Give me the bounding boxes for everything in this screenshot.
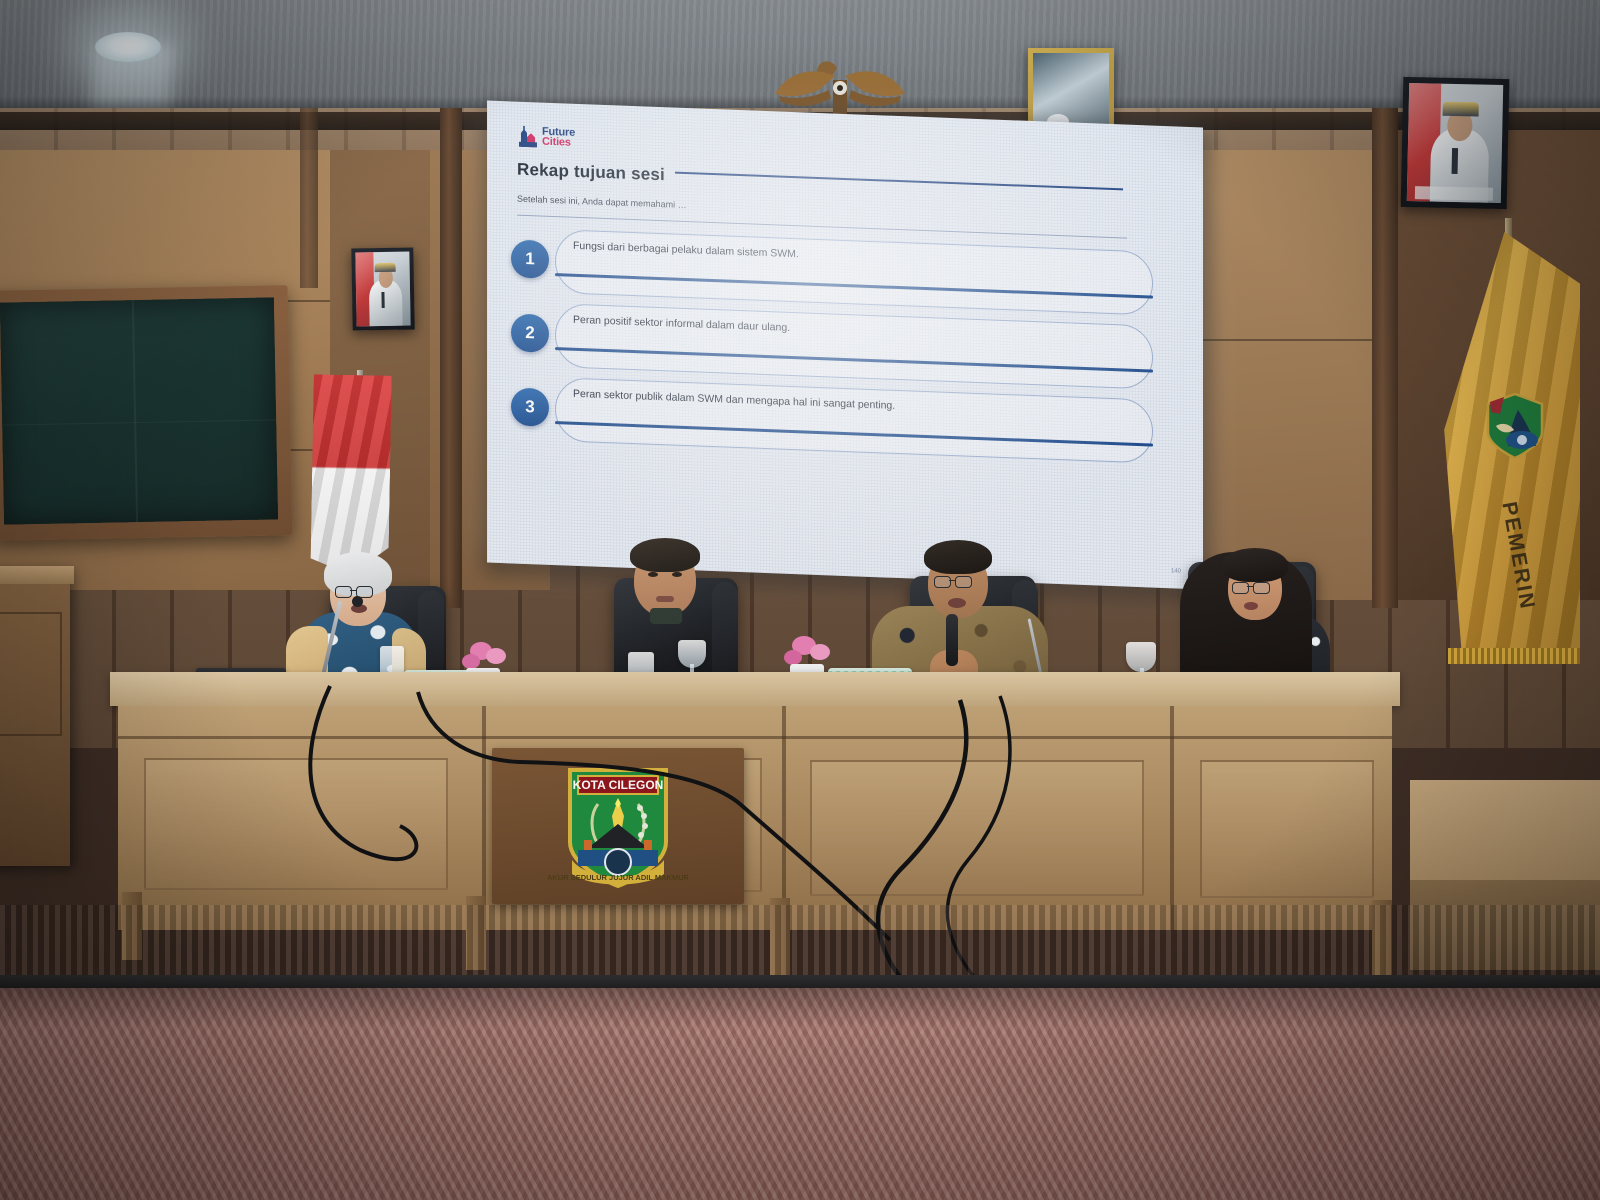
conference-hall-photo: PEMERIN Future Cities Re <box>0 0 1600 1200</box>
wall-pillar-left <box>300 108 318 288</box>
stage-riser <box>0 905 1600 983</box>
panelist-2-collar <box>650 608 682 624</box>
indonesia-flag <box>310 374 391 575</box>
ceiling-light-icon <box>95 32 161 62</box>
chalkboard-frame <box>0 285 292 541</box>
projection-screen: Future Cities Rekap tujuan sesi Setelah … <box>487 101 1203 590</box>
city-emblem-on-flag-icon <box>1478 388 1552 462</box>
panelist-3-hair <box>924 540 992 574</box>
wall-pillar-center <box>440 108 462 608</box>
official-portrait-left <box>351 247 414 330</box>
screen-glare <box>487 101 1203 590</box>
panelist-4-glasses <box>1232 582 1278 592</box>
green-chalkboard <box>0 297 278 524</box>
podium-panel <box>0 612 62 736</box>
panelist-2-hair <box>630 538 700 572</box>
floor-shadow <box>0 988 1600 1028</box>
panelist-1-glasses <box>335 586 379 596</box>
official-portrait-right <box>1401 77 1510 209</box>
wood-panel-right <box>1200 150 1390 600</box>
panelist-3-mouth <box>948 598 966 608</box>
panelist-4-hair-front <box>1222 548 1288 582</box>
podium-top <box>0 566 74 584</box>
panelist-4-mouth <box>1244 602 1258 610</box>
panelist-3-glasses <box>934 576 982 586</box>
microphone-head-1 <box>352 596 363 607</box>
wall-pillar-right <box>1372 108 1398 608</box>
